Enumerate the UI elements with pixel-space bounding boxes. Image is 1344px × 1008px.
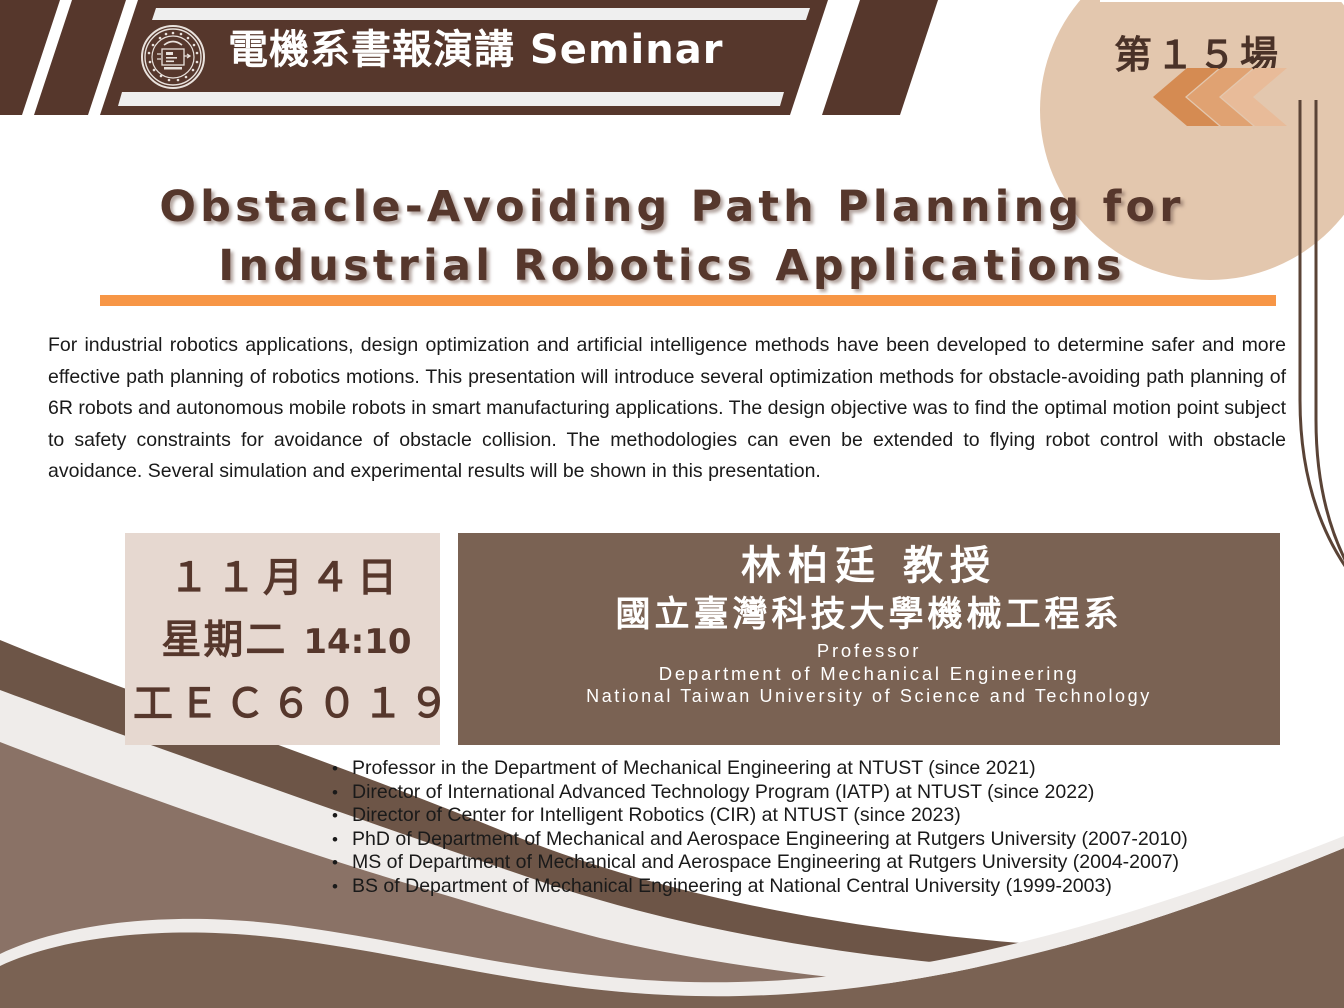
speaker-info-box: 林柏廷 教授 國立臺灣科技大學機械工程系 Professor Departmen… <box>458 533 1280 745</box>
bio-item-text: Director of Center for Intelligent Robot… <box>352 804 1318 828</box>
seminar-weekday-time: 星期二 14:10 <box>125 609 440 673</box>
triple-chevron-left-icon <box>1139 68 1289 126</box>
speaker-department-en: Department of Mechanical Engineering <box>458 662 1280 685</box>
speaker-name: 林柏廷 教授 <box>458 541 1280 591</box>
bio-item-text: MS of Department of Mechanical and Aeros… <box>352 851 1318 875</box>
seminar-poster: 電機系書報演講 Seminar 第１５場 Obstacle-Avoiding P… <box>0 0 1344 1008</box>
speaker-bio-list: • Professor in the Department of Mechani… <box>318 757 1318 898</box>
seminar-room: 工ＥＣ６０１９ <box>125 673 440 735</box>
header-title: 電機系書報演講 Seminar <box>228 25 723 75</box>
list-item: • BS of Department of Mechanical Enginee… <box>318 875 1318 899</box>
abstract-text: For industrial robotics applications, de… <box>48 330 1286 488</box>
header-inset-bottom <box>118 92 784 106</box>
title-line-2: Industrial Robotics Applications <box>60 237 1284 296</box>
bullet-icon: • <box>318 875 352 899</box>
bullet-icon: • <box>318 828 352 852</box>
title-line-1: Obstacle-Avoiding Path Planning for <box>60 178 1284 237</box>
header-inset-top <box>152 8 810 20</box>
speaker-university-en: National Taiwan University of Science an… <box>458 685 1280 708</box>
speaker-department-zh: 國立臺灣科技大學機械工程系 <box>458 591 1280 639</box>
list-item: • Professor in the Department of Mechani… <box>318 757 1318 781</box>
bullet-icon: • <box>318 804 352 828</box>
list-item: • Director of International Advanced Tec… <box>318 781 1318 805</box>
bullet-icon: • <box>318 851 352 875</box>
seminar-weekday: 星期二 <box>161 617 287 663</box>
bullet-icon: • <box>318 781 352 805</box>
list-item: • PhD of Department of Mechanical and Ae… <box>318 828 1318 852</box>
ntu-seal-icon <box>140 24 206 90</box>
bio-item-text: BS of Department of Mechanical Engineeri… <box>352 875 1318 899</box>
list-item: • MS of Department of Mechanical and Aer… <box>318 851 1318 875</box>
curved-line-2 <box>1316 100 1344 655</box>
seminar-date: １１月４日 <box>125 547 440 609</box>
speaker-title-en: Professor <box>458 639 1280 662</box>
curved-line-1 <box>1300 100 1344 640</box>
bio-item-text: Professor in the Department of Mechanica… <box>352 757 1318 781</box>
seminar-time: 14:10 <box>303 622 411 662</box>
title-accent-bar <box>100 295 1276 306</box>
header-stripe-3 <box>822 0 938 115</box>
date-time-box: １１月４日 星期二 14:10 工ＥＣ６０１９ <box>125 533 440 745</box>
list-item: • Director of Center for Intelligent Rob… <box>318 804 1318 828</box>
bio-item-text: PhD of Department of Mechanical and Aero… <box>352 828 1318 852</box>
bio-item-text: Director of International Advanced Techn… <box>352 781 1318 805</box>
page-title: Obstacle-Avoiding Path Planning for Indu… <box>60 178 1284 296</box>
bullet-icon: • <box>318 757 352 781</box>
